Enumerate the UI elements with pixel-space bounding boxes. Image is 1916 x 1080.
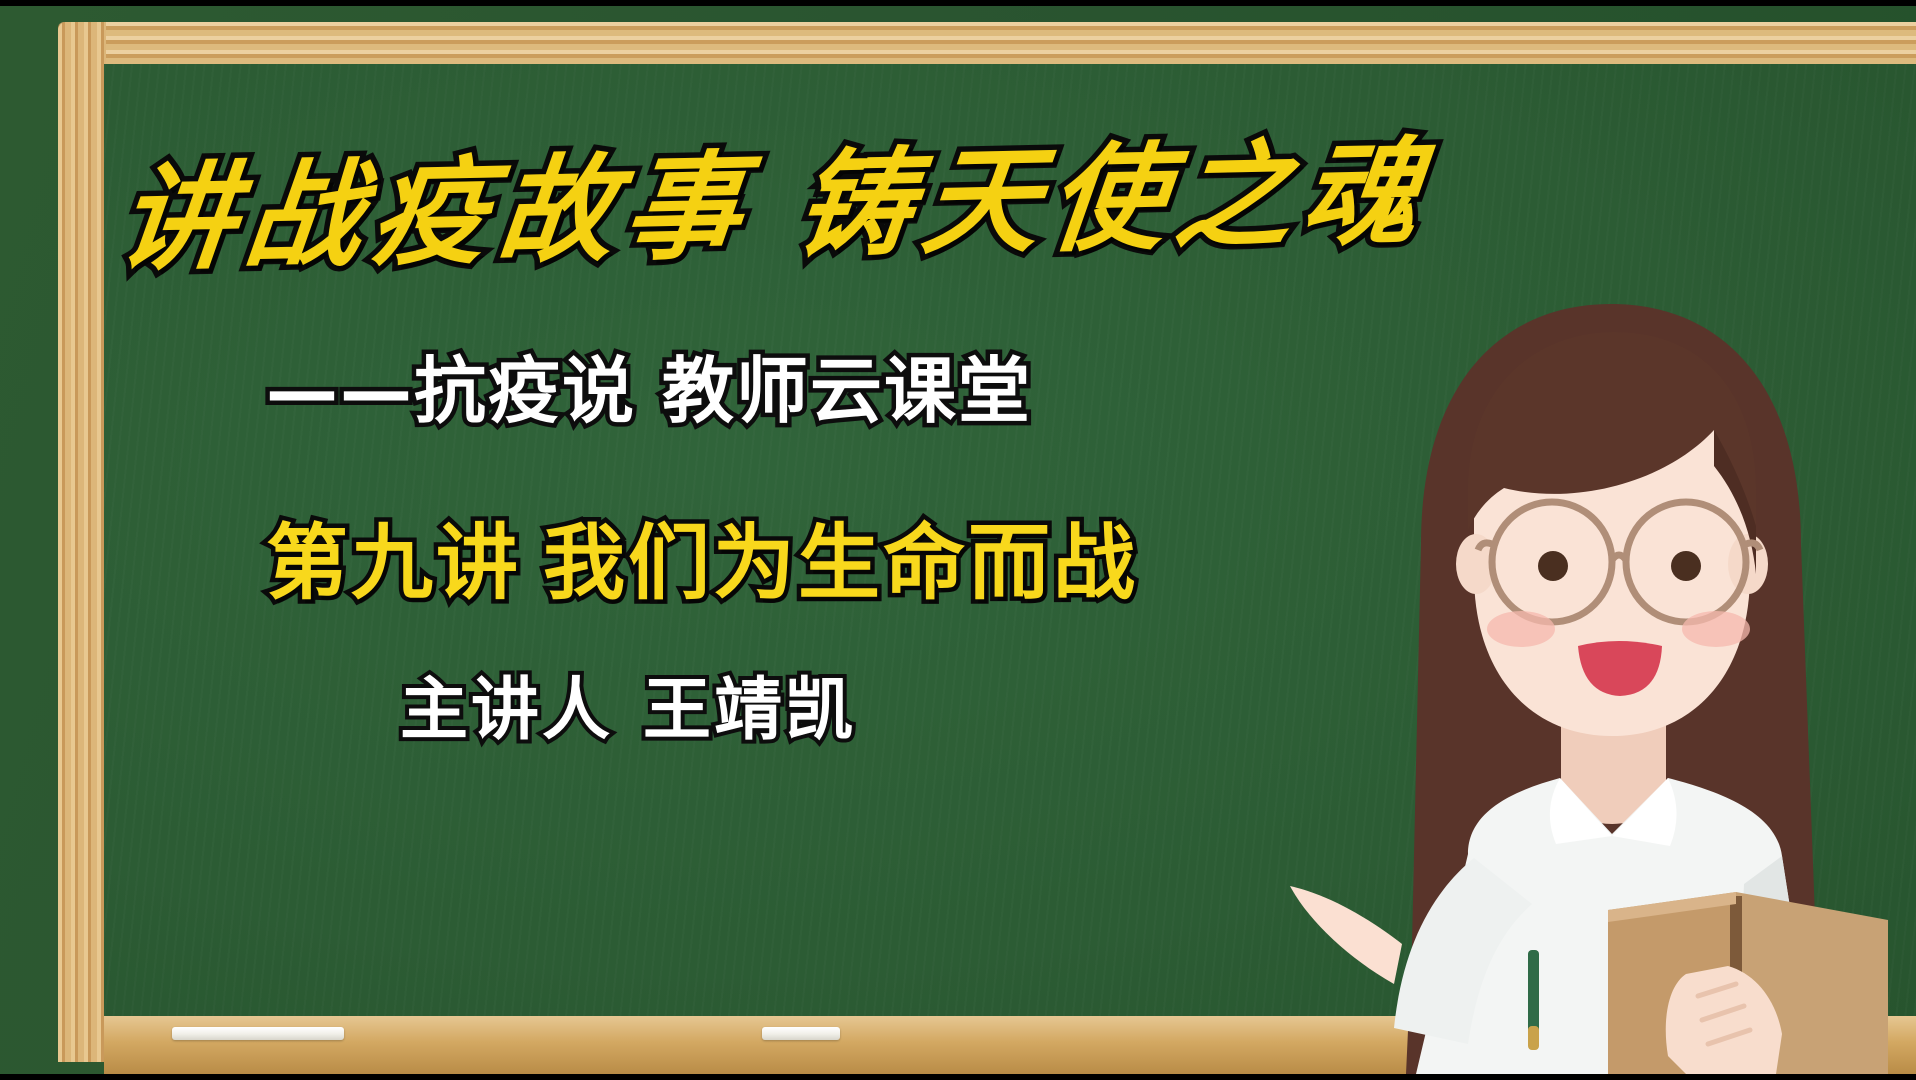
slide-title-part1: 讲战疫故事 [113, 138, 758, 287]
presenter-line: 主讲人王靖凯 [400, 654, 856, 753]
lecture-title: 我们为生命而战 [543, 515, 1138, 611]
title-spacer [747, 246, 793, 247]
lecture-number: 第九讲 [266, 515, 521, 611]
slide-title: 讲战疫故事铸天使之魂 [112, 98, 1438, 293]
slide-title-part2: 铸天使之魂 [790, 124, 1435, 273]
chalk-piece-short [762, 1027, 840, 1040]
subtitle-part1: 抗疫说 [414, 349, 636, 433]
presenter-label: 主讲人 [400, 671, 613, 750]
subtitle-part2: 教师云课堂 [662, 349, 1032, 433]
presenter-name: 王靖凯 [643, 671, 856, 750]
chalkboard-frame-top-rail [100, 22, 1916, 66]
subtitle-em-dash: —— [266, 349, 414, 433]
letterbox-bottom [0, 1074, 1916, 1080]
slide-subtitle: ——抗疫说教师云课堂 [266, 332, 1032, 437]
slide-canvas: 讲战疫故事铸天使之魂 ——抗疫说教师云课堂 第九讲我们为生命而战 主讲人王靖凯 [0, 0, 1916, 1080]
letterbox-top [0, 0, 1916, 6]
chalk-tray [104, 1016, 1916, 1074]
chalk-piece-long [172, 1027, 344, 1040]
chalkboard-frame-left-post [58, 22, 106, 1062]
lecture-heading: 第九讲我们为生命而战 [266, 496, 1138, 615]
slide-text-layer: 讲战疫故事铸天使之魂 ——抗疫说教师云课堂 第九讲我们为生命而战 主讲人王靖凯 [104, 64, 1284, 1004]
